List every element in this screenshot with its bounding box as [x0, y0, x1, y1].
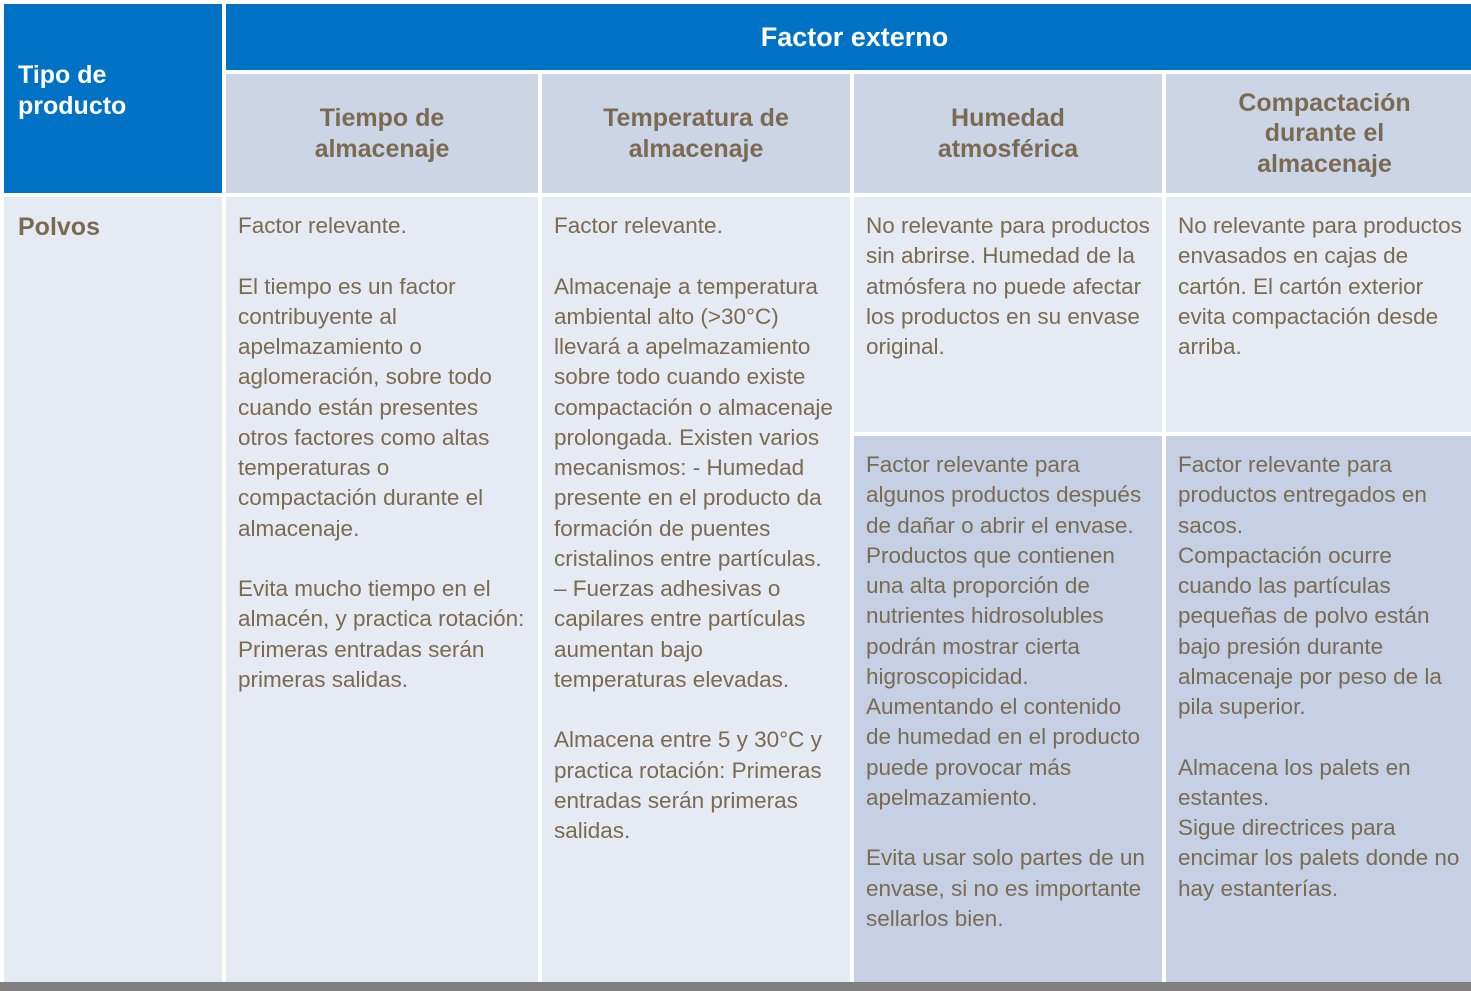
cell-paragraph: Factor relevante para algunos productos …	[866, 450, 1150, 813]
bottom-rule-divider	[0, 982, 1471, 991]
column-header-compactacion-durante-el-almacenaje: Compactación durante el almacenaje	[1166, 74, 1471, 193]
cell-polvos-compactacion: No relevante para productos envasados en…	[1166, 197, 1471, 982]
column-header-temperatura-de-almacenaje: Temperatura de almacenaje	[542, 74, 850, 193]
cell-paragraph: El tiempo es un factor contribuyente al …	[238, 272, 526, 544]
corner-header-tipo-de-producto: Tipo de producto	[4, 4, 222, 193]
slide-canvas: Tipo de producto Factor externo Tiempo d…	[0, 0, 1471, 991]
cell-paragraph: Factor relevante.	[238, 211, 526, 241]
cell-paragraph: Almacenaje a temperatura ambiental alto …	[554, 272, 838, 696]
cell-paragraph: Compactación ocurre cuando las partícula…	[1178, 541, 1471, 723]
cell-polvos-tiempo: Factor relevante. El tiempo es un factor…	[226, 197, 538, 982]
cell-polvos-humedad: No relevante para productos sin abrirse.…	[854, 197, 1162, 982]
cell-polvos-compactacion-top: No relevante para productos envasados en…	[1166, 197, 1471, 432]
cell-polvos-humedad-bottom: Factor relevante para algunos productos …	[854, 436, 1162, 982]
column-header-tiempo-de-almacenaje: Tiempo de almacenaje	[226, 74, 538, 193]
factors-matrix-table: Tipo de producto Factor externo Tiempo d…	[4, 4, 1471, 982]
cell-paragraph: Almacena entre 5 y 30°C y practica rotac…	[554, 725, 838, 846]
cell-polvos-humedad-top: No relevante para productos sin abrirse.…	[854, 197, 1162, 432]
column-header-humedad-atmosferica: Humedad atmosférica	[854, 74, 1162, 193]
cell-polvos-temperatura: Factor relevante. Almacenaje a temperatu…	[542, 197, 850, 982]
row-label-polvos: Polvos	[4, 197, 222, 982]
cell-paragraph: Almacena los palets en estantes.	[1178, 753, 1471, 814]
cell-polvos-compactacion-bottom: Factor relevante para productos entregad…	[1166, 436, 1471, 982]
super-header-factor-externo: Factor externo	[226, 4, 1471, 70]
cell-paragraph: Factor relevante.	[554, 211, 838, 241]
cell-paragraph: Sigue directrices para encimar los palet…	[1178, 813, 1471, 904]
cell-paragraph: No relevante para productos sin abrirse.…	[866, 211, 1150, 362]
cell-paragraph: Evita usar solo partes de un envase, si …	[866, 843, 1150, 934]
cell-paragraph: Factor relevante para productos entregad…	[1178, 450, 1471, 541]
cell-paragraph: No relevante para productos envasados en…	[1178, 211, 1471, 362]
cell-paragraph: Evita mucho tiempo en el almacén, y prac…	[238, 574, 526, 695]
